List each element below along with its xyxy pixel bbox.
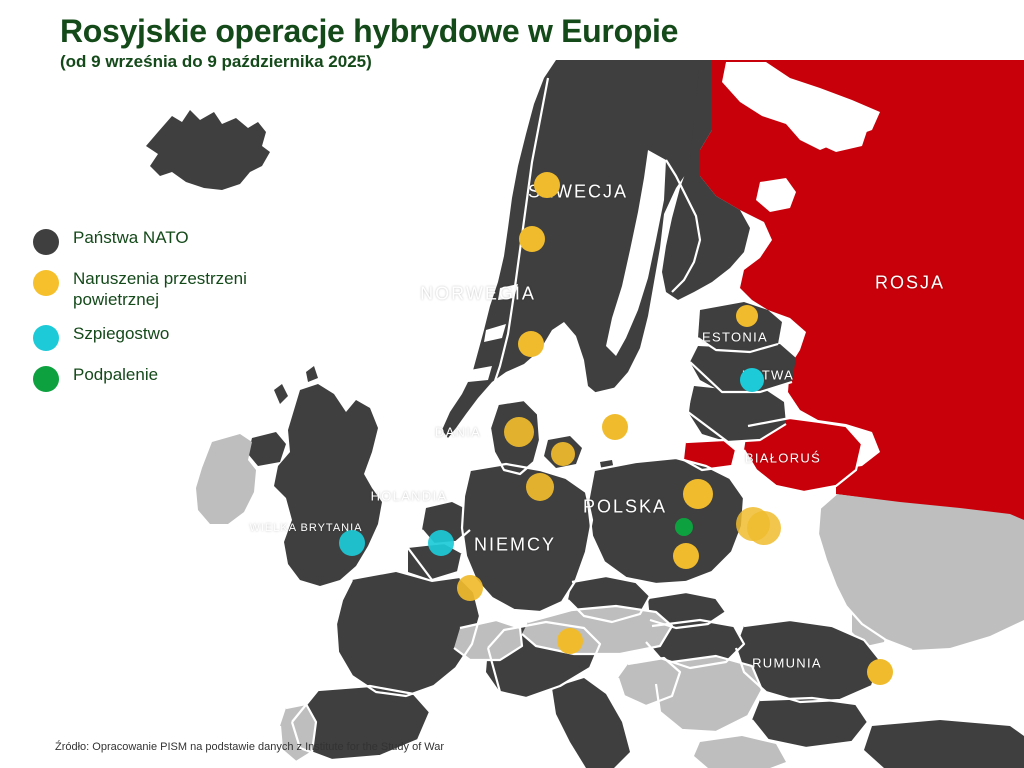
map-marker-airspace-violation[interactable]: [526, 473, 554, 501]
map-marker-airspace-violation[interactable]: [602, 414, 628, 440]
map-marker-airspace-violation[interactable]: [457, 575, 483, 601]
circle-icon: [33, 325, 59, 351]
country-label-holandia: HOLANDIA: [371, 489, 448, 504]
country-label-rumunia: RUMUNIA: [752, 656, 822, 671]
country-label-norwegia: NORWEGIA: [420, 284, 536, 305]
circle-icon: [33, 366, 59, 392]
map-marker-airspace-violation[interactable]: [518, 331, 544, 357]
map-marker-airspace-violation[interactable]: [747, 511, 781, 545]
map-marker-airspace-violation[interactable]: [504, 417, 534, 447]
map-marker-espionage[interactable]: [339, 530, 365, 556]
map-marker-airspace-violation[interactable]: [534, 172, 560, 198]
map-marker-airspace-violation[interactable]: [867, 659, 893, 685]
legend-item-airspace-violation: Naruszenia przestrzeni powietrznej: [33, 269, 303, 310]
legend-item-label: Podpalenie: [73, 365, 158, 386]
country-label-rosja: ROSJA: [875, 273, 945, 294]
legend-item-nato: Państwa NATO: [33, 228, 303, 255]
legend-item-espionage: Szpiegostwo: [33, 324, 303, 351]
country-turkey-edge: [864, 720, 1024, 768]
source-note: Źródło: Opracowanie PISM na podstawie da…: [55, 741, 444, 753]
map-marker-airspace-violation[interactable]: [519, 226, 545, 252]
header: Rosyjskie operacje hybrydowe w Europie (…: [60, 14, 678, 72]
country-label-dania: DANIA: [435, 425, 481, 440]
legend-item-arson: Podpalenie: [33, 365, 303, 392]
circle-icon: [33, 270, 59, 296]
map-marker-espionage[interactable]: [740, 368, 764, 392]
country-label-niemcy: NIEMCY: [474, 535, 556, 556]
country-label-polska: POLSKA: [583, 497, 667, 518]
legend-item-label: Państwa NATO: [73, 228, 189, 249]
map-marker-airspace-violation[interactable]: [736, 305, 758, 327]
map-marker-arson[interactable]: [675, 518, 693, 536]
map-marker-airspace-violation[interactable]: [683, 479, 713, 509]
legend-item-label: Naruszenia przestrzeni powietrznej: [73, 269, 303, 310]
map-marker-airspace-violation[interactable]: [551, 442, 575, 466]
map-marker-airspace-violation[interactable]: [673, 543, 699, 569]
page-title: Rosyjskie operacje hybrydowe w Europie: [60, 14, 678, 49]
legend: Państwa NATO Naruszenia przestrzeni powi…: [33, 228, 303, 406]
map-marker-espionage[interactable]: [428, 530, 454, 556]
circle-icon: [33, 229, 59, 255]
map-marker-airspace-violation[interactable]: [557, 628, 583, 654]
page-subtitle: (od 9 września do 9 października 2025): [60, 52, 678, 72]
country-label-estonia: ESTONIA: [702, 330, 768, 345]
legend-item-label: Szpiegostwo: [73, 324, 169, 345]
country-label-białoruś: BIAŁORUŚ: [745, 451, 821, 466]
